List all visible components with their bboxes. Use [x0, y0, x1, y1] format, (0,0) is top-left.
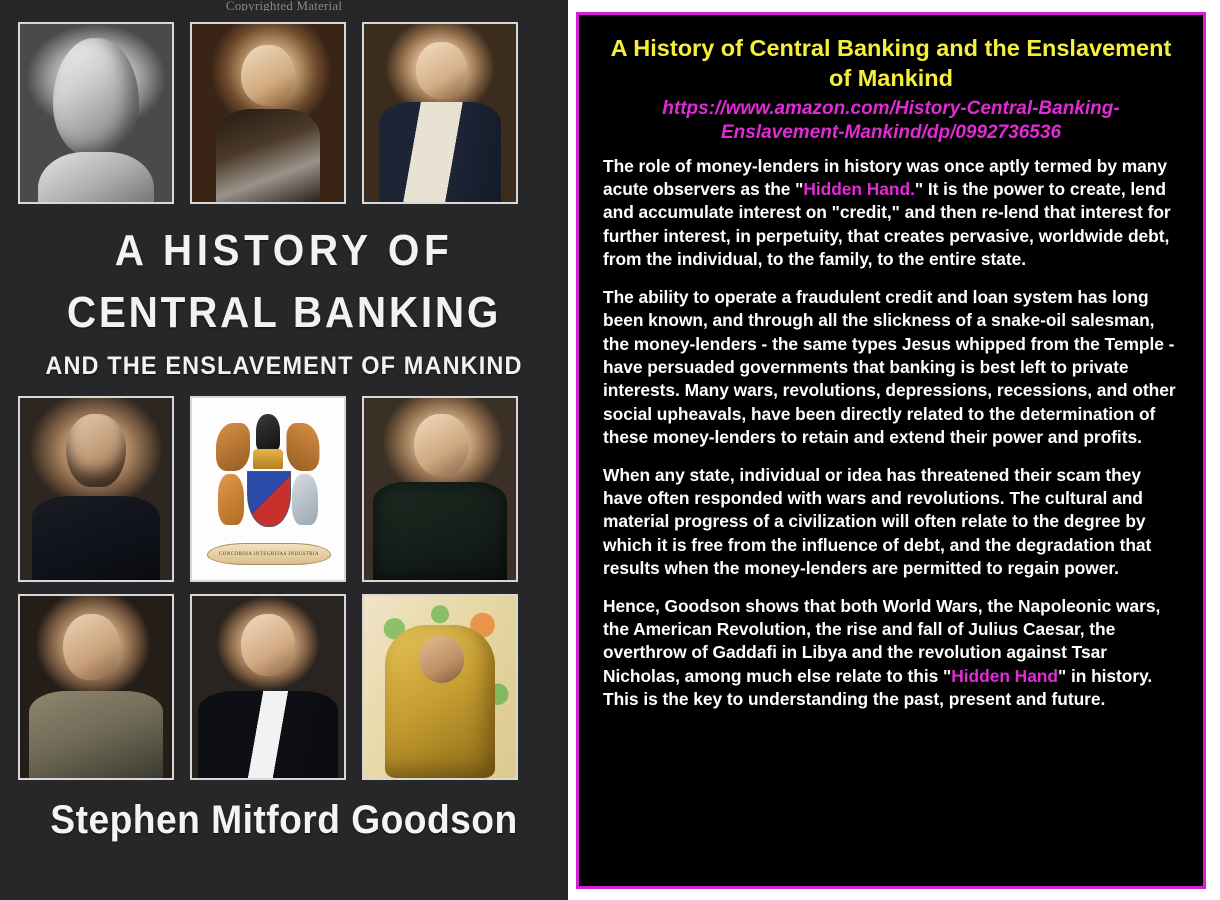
crest-helm-icon	[256, 414, 280, 450]
book-cover-image: Copyrighted Material A HISTORY OF CENTRA…	[0, 0, 568, 900]
panel-description-body: The role of money-lenders in history was…	[595, 155, 1187, 712]
panel-paragraph-4: Hence, Goodson shows that both World War…	[603, 595, 1181, 712]
amazon-product-link[interactable]: https://www.amazon.com/History-Central-B…	[609, 97, 1173, 145]
john-f-kennedy-icon	[192, 596, 344, 778]
hidden-hand-highlight: Hidden Hand	[951, 666, 1058, 686]
panel-paragraph-3: When any state, individual or idea has t…	[603, 464, 1181, 581]
paragraph-text: When any state, individual or idea has t…	[603, 465, 1151, 579]
crest-motto-text: CONCORDIA INTEGRITAS INDUSTRIA	[208, 544, 330, 564]
hidden-hand-highlight: Hidden Hand.	[803, 179, 914, 199]
charles-i-portrait	[190, 22, 346, 204]
cover-title-line-1: A HISTORY OF	[23, 226, 546, 276]
portrait-row-middle: CONCORDIA INTEGRITAS INDUSTRIA	[18, 396, 518, 582]
crest-mantling-left	[216, 423, 249, 470]
tsar-alexander-ii-icon	[364, 398, 516, 580]
cover-subtitle-line: AND THE ENSLAVEMENT OF MANKIND	[17, 352, 551, 381]
cover-title-line-2: CENTRAL BANKING	[23, 288, 546, 338]
abraham-lincoln-portrait	[18, 396, 174, 582]
crest-unicorn-supporter-icon	[292, 474, 318, 525]
panel-paragraph-1: The role of money-lenders in history was…	[603, 155, 1181, 272]
tsar-alexander-ii-portrait	[362, 396, 518, 582]
muammar-gaddafi-icon	[364, 596, 516, 778]
panel-paragraph-2: The ability to operate a fraudulent cred…	[603, 286, 1181, 450]
muammar-gaddafi-portrait	[362, 594, 518, 780]
napoleon-portrait	[362, 22, 518, 204]
john-f-kennedy-portrait	[190, 594, 346, 780]
coat-of-arms-icon: CONCORDIA INTEGRITAS INDUSTRIA	[192, 398, 344, 580]
page-root: Copyrighted Material A HISTORY OF CENTRA…	[0, 0, 1220, 900]
rothschild-coat-of-arms-portrait: CONCORDIA INTEGRITAS INDUSTRIA	[190, 396, 346, 582]
crest-crown-icon	[253, 449, 283, 469]
roman-bust-caesar-portrait	[18, 22, 174, 204]
portrait-row-bottom	[18, 594, 518, 780]
adolf-hitler-portrait	[18, 594, 174, 780]
crest-motto-scroll: CONCORDIA INTEGRITAS INDUSTRIA	[207, 543, 331, 565]
adolf-hitler-icon	[20, 596, 172, 778]
crest-lion-supporter-icon	[218, 474, 244, 525]
copyrighted-material-watermark: Copyrighted Material	[0, 0, 568, 11]
charles-i-icon	[192, 24, 344, 202]
panel-book-title: A History of Central Banking and the Ens…	[607, 33, 1175, 93]
gaddafi-face-shape	[419, 636, 465, 683]
roman-bust-icon	[20, 24, 172, 202]
crest-mantling-right	[286, 423, 319, 470]
abraham-lincoln-icon	[20, 398, 172, 580]
napoleon-icon	[364, 24, 516, 202]
cover-author-name: Stephen Mitford Goodson	[20, 798, 548, 843]
crest-shield-icon	[247, 471, 292, 528]
paragraph-text: The ability to operate a fraudulent cred…	[603, 287, 1176, 447]
portrait-row-top	[18, 22, 518, 204]
description-panel: A History of Central Banking and the Ens…	[576, 12, 1206, 889]
